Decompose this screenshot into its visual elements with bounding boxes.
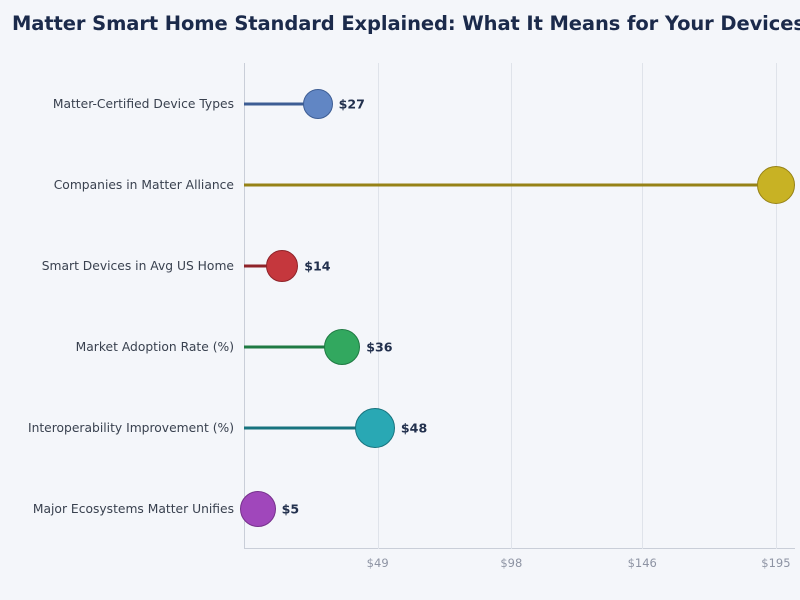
category-label: Major Ecosystems Matter Unifies — [33, 502, 234, 516]
lollipop-marker[interactable] — [303, 89, 333, 119]
category-label: Smart Devices in Avg US Home — [42, 259, 234, 273]
x-axis-spine — [244, 548, 795, 549]
category-label: Interoperability Improvement (%) — [28, 421, 234, 435]
lollipop-marker[interactable] — [757, 166, 795, 204]
lollipop-marker[interactable] — [266, 250, 298, 282]
gridline — [776, 63, 777, 549]
gridline — [378, 63, 379, 549]
data-value-label: $27 — [339, 96, 365, 111]
gridline — [511, 63, 512, 549]
category-label: Market Adoption Rate (%) — [76, 340, 234, 354]
x-tick-label: $98 — [500, 556, 522, 570]
chart-title: Matter Smart Home Standard Explained: Wh… — [12, 12, 800, 35]
lollipop-marker[interactable] — [324, 329, 360, 365]
plot-area: $27$195$14$36$48$5 — [244, 63, 795, 549]
lollipop-chart: Matter Smart Home Standard Explained: Wh… — [0, 0, 800, 600]
data-value-label: $5 — [282, 501, 300, 516]
lollipop-marker[interactable] — [355, 408, 395, 448]
gridline — [642, 63, 643, 549]
data-value-label: $14 — [304, 258, 330, 273]
category-label: Companies in Matter Alliance — [54, 178, 234, 192]
data-value-label: $36 — [366, 339, 392, 354]
lollipop-stem — [244, 183, 776, 186]
x-tick-label: $49 — [367, 556, 389, 570]
data-value-label: $48 — [401, 420, 427, 435]
lollipop-marker[interactable] — [240, 491, 276, 527]
category-label: Matter-Certified Device Types — [53, 97, 234, 111]
x-tick-label: $195 — [761, 556, 790, 570]
x-tick-label: $146 — [628, 556, 657, 570]
y-axis-spine — [244, 63, 245, 549]
